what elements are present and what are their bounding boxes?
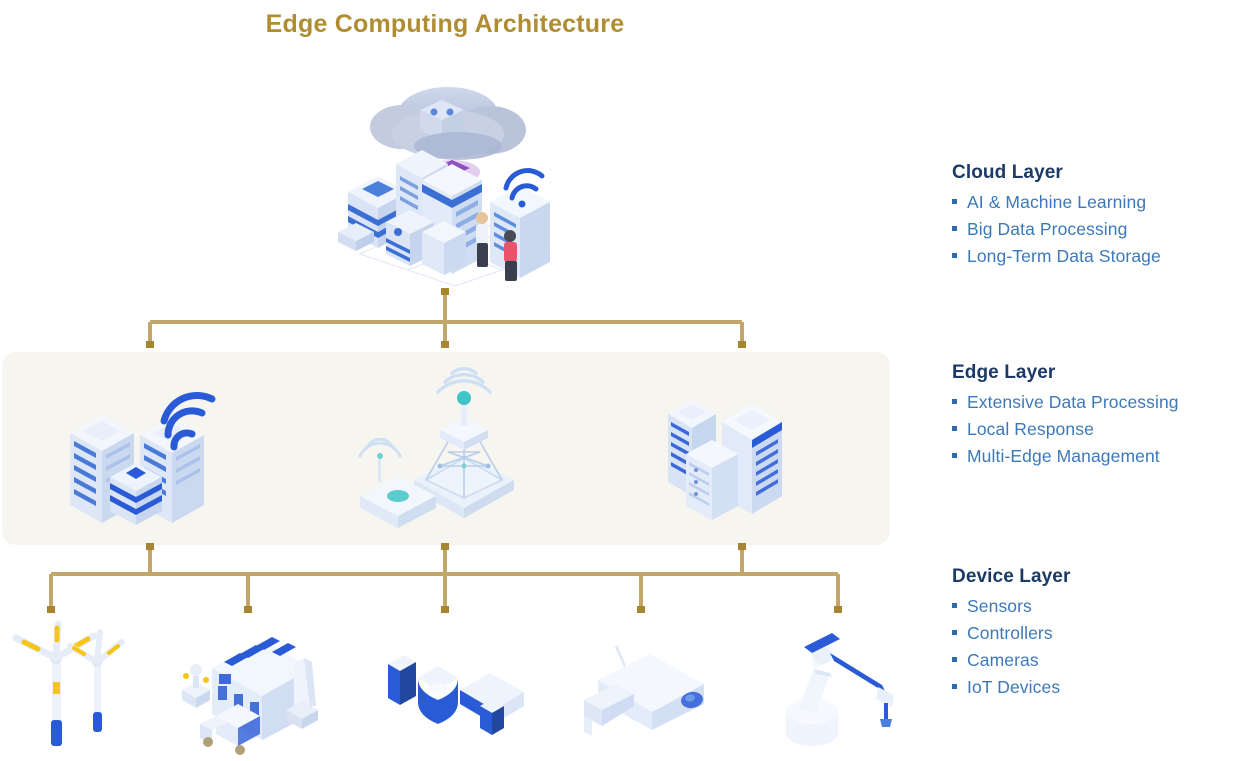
server-towers-illustration	[660, 386, 792, 536]
signal-waves-router	[360, 439, 400, 459]
bullet-marker-icon	[952, 253, 957, 258]
legend-item: Sensors	[952, 596, 1252, 617]
factory-truck-illustration	[178, 628, 323, 756]
legend-item: Big Data Processing	[952, 219, 1252, 240]
bullet-marker-icon	[952, 684, 957, 689]
legend-item-label: Big Data Processing	[967, 219, 1127, 240]
legend-heading-edge: Edge Layer	[952, 362, 1252, 384]
tower-head	[440, 391, 488, 450]
legend-item: AI & Machine Learning	[952, 192, 1252, 213]
edge-servers-illustration	[62, 385, 232, 535]
legend-item-label: AI & Machine Learning	[967, 192, 1146, 213]
tower-front-stack	[686, 440, 738, 520]
legend-item-label: IoT Devices	[967, 677, 1060, 698]
signal-waves-tower	[438, 369, 490, 392]
iot-3d-letters	[388, 655, 524, 735]
legend-item: Controllers	[952, 623, 1252, 644]
legend-item-label: Extensive Data Processing	[967, 392, 1179, 413]
bullet-marker-icon	[952, 630, 957, 635]
delivery-truck	[200, 704, 260, 755]
bullet-marker-icon	[952, 399, 957, 404]
legend-item: IoT Devices	[952, 677, 1252, 698]
legend-item: Extensive Data Processing	[952, 392, 1252, 413]
legend-item-label: Local Response	[967, 419, 1094, 440]
legend-list-edge: Extensive Data Processing Local Response…	[952, 392, 1252, 467]
legend-item-label: Long-Term Data Storage	[967, 246, 1161, 267]
security-camera-illustration	[580, 630, 725, 750]
legend-item: Cameras	[952, 650, 1252, 671]
legend-item-label: Multi-Edge Management	[967, 446, 1160, 467]
bullet-marker-icon	[952, 199, 957, 204]
technician-left	[476, 212, 488, 267]
robot-arm-illustration	[770, 625, 900, 755]
wifi-router	[360, 454, 436, 528]
legend-item-label: Cameras	[967, 650, 1039, 671]
cell-tower-illustration	[352, 358, 547, 533]
legend-item: Multi-Edge Management	[952, 446, 1252, 467]
technician-right	[504, 230, 517, 281]
legend-item: Long-Term Data Storage	[952, 246, 1252, 267]
cloud-data-center-illustration	[330, 72, 580, 292]
legend-group-device: Device Layer Sensors Controllers Cameras…	[952, 566, 1252, 704]
bullet-marker-icon	[952, 226, 957, 231]
bullet-marker-icon	[952, 657, 957, 662]
legend-group-edge: Edge Layer Extensive Data Processing Loc…	[952, 362, 1252, 473]
bullet-marker-icon	[952, 453, 957, 458]
server-cabinet-right	[490, 186, 550, 278]
factory-worker	[182, 664, 210, 708]
iot-text-illustration	[382, 632, 537, 752]
wind-turbine-large	[16, 624, 94, 746]
legend-heading-cloud: Cloud Layer	[952, 162, 1252, 184]
bullet-marker-icon	[952, 426, 957, 431]
page-title: Edge Computing Architecture	[0, 10, 890, 39]
server-cabinet-lowercenter	[422, 221, 466, 275]
legend-item-label: Sensors	[967, 596, 1032, 617]
legend-group-cloud: Cloud Layer AI & Machine Learning Big Da…	[952, 162, 1252, 273]
legend-item-label: Controllers	[967, 623, 1053, 644]
legend-heading-device: Device Layer	[952, 566, 1252, 588]
camera-mount	[584, 684, 634, 736]
legend-item: Local Response	[952, 419, 1252, 440]
legend-list-cloud: AI & Machine Learning Big Data Processin…	[952, 192, 1252, 267]
cloud-shape	[370, 87, 526, 160]
legend-list-device: Sensors Controllers Cameras IoT Devices	[952, 596, 1252, 698]
bullet-marker-icon	[952, 603, 957, 608]
wind-turbines-illustration	[8, 620, 133, 756]
